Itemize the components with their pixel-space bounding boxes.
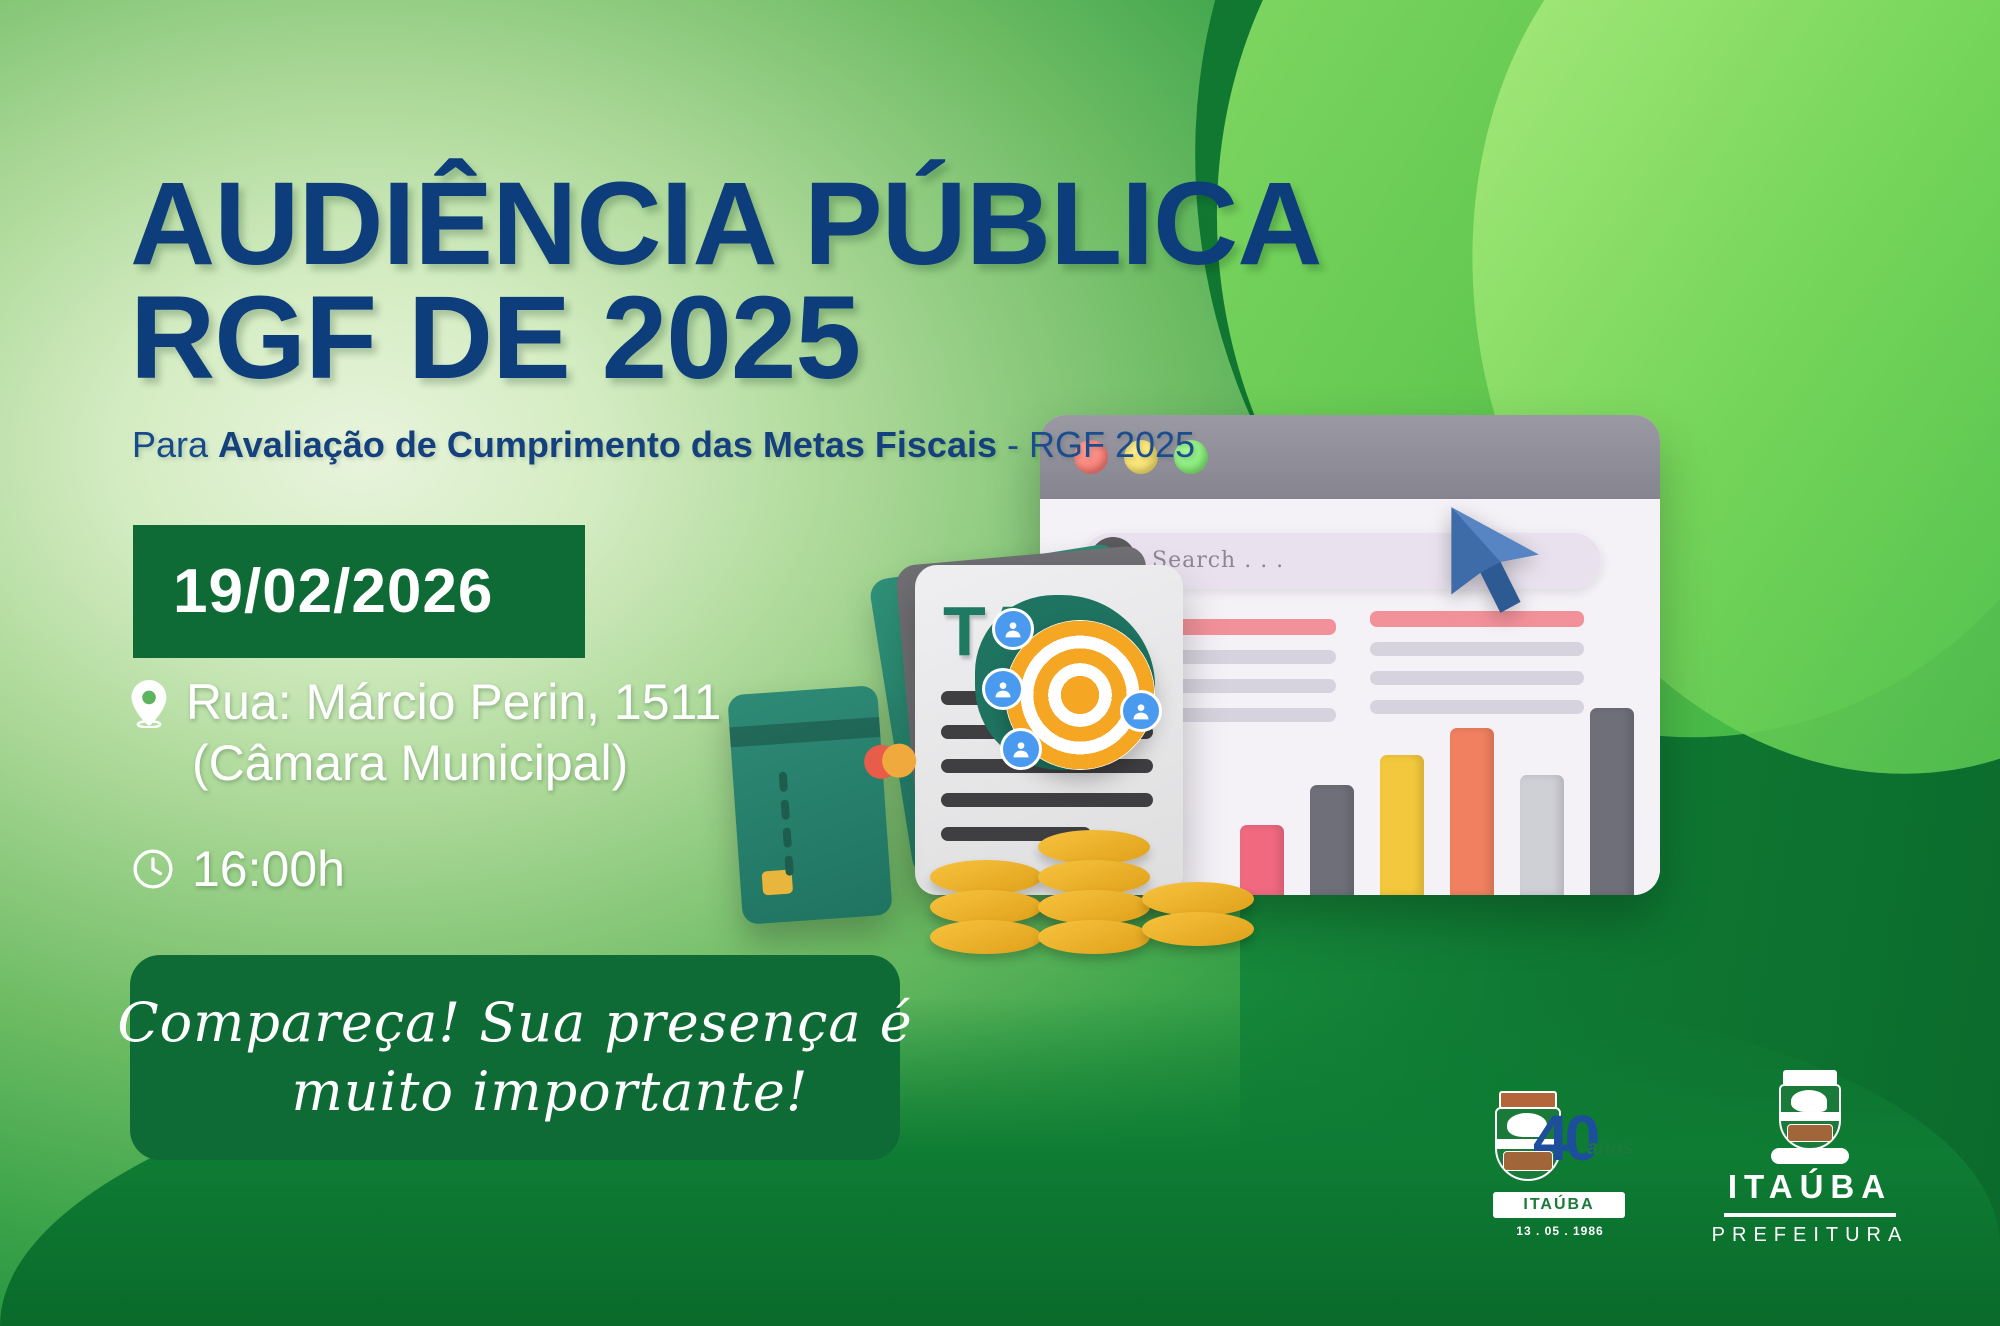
anniversary-city: ITAÚBA bbox=[1493, 1192, 1625, 1218]
subtitle-tail: - RGF 2025 bbox=[997, 424, 1195, 465]
prefeitura-subtitle: PREFEITURA bbox=[1710, 1224, 1910, 1247]
prefeitura-logo: ITAÚBA PREFEITURA bbox=[1710, 1070, 1910, 1245]
coin bbox=[1142, 882, 1254, 916]
chart-bar bbox=[1520, 775, 1564, 895]
anniversary-date: 13 . 05 . 1986 bbox=[1505, 1224, 1615, 1238]
bar-chart bbox=[1240, 675, 1634, 895]
title-line-2: RGF DE 2025 bbox=[130, 284, 1530, 394]
subtitle-bold: Avaliação de Cumprimento das Metas Fisca… bbox=[218, 424, 997, 465]
address-line-1: Rua: Márcio Perin, 1511 bbox=[186, 674, 721, 730]
content-line bbox=[1370, 642, 1584, 656]
call-to-action-box: Compareça! Sua presença é muito importan… bbox=[130, 955, 900, 1160]
avatar bbox=[1000, 728, 1042, 770]
crest-horse-icon bbox=[1791, 1090, 1827, 1112]
chart-bar bbox=[1380, 755, 1424, 895]
address-line-2: (Câmara Municipal) bbox=[186, 733, 721, 794]
illustration: Search . . . bbox=[920, 390, 1680, 1010]
prefeitura-crest-icon bbox=[1767, 1070, 1853, 1162]
content-column: AUDIÊNCIA PÚBLICA RGF DE 2025 Para Avali… bbox=[0, 0, 1000, 1326]
date-badge: 19/02/2026 bbox=[133, 525, 585, 658]
subtitle-prefix: Para bbox=[132, 424, 218, 465]
crest-scroll bbox=[1771, 1148, 1849, 1164]
coin bbox=[1142, 912, 1254, 946]
subtitle: Para Avaliação de Cumprimento das Metas … bbox=[132, 424, 1195, 466]
anniversary-word: anos bbox=[1587, 1137, 1634, 1160]
time-row: 16:00h bbox=[132, 840, 345, 898]
prefeitura-divider bbox=[1724, 1213, 1896, 1217]
anniversary-logo: 40 anos ITAÚBA 13 . 05 . 1986 bbox=[1475, 1075, 1650, 1240]
title-line-1: AUDIÊNCIA PÚBLICA bbox=[130, 158, 1321, 290]
address-text: Rua: Márcio Perin, 1511 (Câmara Municipa… bbox=[186, 672, 721, 794]
chart-bar bbox=[1240, 825, 1284, 895]
coin bbox=[1038, 890, 1150, 924]
chart-bar bbox=[1450, 728, 1494, 895]
content-line bbox=[1160, 650, 1336, 664]
logo-group: 40 anos ITAÚBA 13 . 05 . 1986 ITAÚBA PRE… bbox=[1475, 1065, 1915, 1250]
page-title: AUDIÊNCIA PÚBLICA RGF DE 2025 bbox=[130, 170, 1530, 393]
chart-bar bbox=[1590, 708, 1634, 895]
avatar bbox=[1120, 690, 1162, 732]
clock-icon bbox=[132, 848, 174, 890]
cta-line-2: muito importante! bbox=[221, 1063, 808, 1121]
date-value: 19/02/2026 bbox=[173, 556, 493, 627]
coin bbox=[1038, 920, 1150, 954]
coin bbox=[1038, 830, 1150, 864]
poster-canvas: AUDIÊNCIA PÚBLICA RGF DE 2025 Para Avali… bbox=[0, 0, 2000, 1326]
address-row: Rua: Márcio Perin, 1511 (Câmara Municipa… bbox=[130, 672, 721, 794]
map-pin-icon bbox=[130, 680, 168, 728]
crest-band bbox=[1779, 1112, 1841, 1121]
content-line bbox=[1160, 619, 1336, 635]
coin bbox=[1038, 860, 1150, 894]
chart-bar bbox=[1310, 785, 1354, 895]
time-text: 16:00h bbox=[192, 840, 345, 898]
crest-logs-icon bbox=[1787, 1124, 1833, 1142]
cta-line-1: Compareça! Sua presença é bbox=[117, 994, 912, 1052]
prefeitura-name: ITAÚBA bbox=[1710, 1168, 1910, 1206]
